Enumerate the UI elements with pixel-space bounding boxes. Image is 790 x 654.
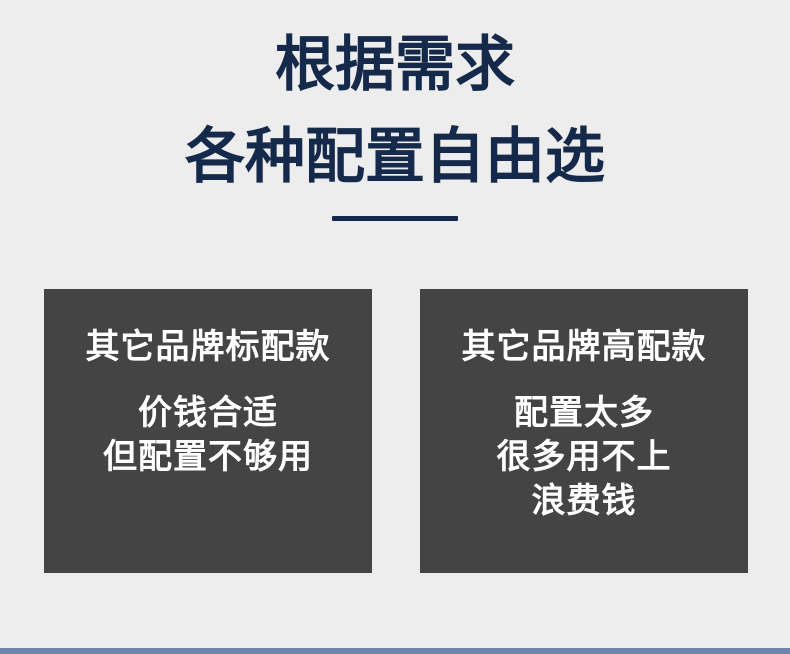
card-body-line: 但配置不够用 bbox=[103, 435, 313, 479]
headline-block: 根据需求 各种配置自由选 bbox=[0, 0, 790, 221]
card-title: 其它品牌高配款 bbox=[462, 289, 707, 369]
card-body-line: 配置太多 bbox=[497, 391, 672, 435]
card-high-config: 其它品牌高配款 配置太多 很多用不上 浪费钱 bbox=[420, 289, 748, 573]
headline-divider bbox=[332, 216, 458, 221]
card-body: 价钱合适 但配置不够用 bbox=[103, 369, 313, 479]
card-body-line: 价钱合适 bbox=[103, 391, 313, 435]
card-title: 其它品牌标配款 bbox=[86, 289, 331, 369]
card-body-line: 浪费钱 bbox=[497, 479, 672, 523]
bottom-accent-strip bbox=[0, 648, 790, 654]
card-body: 配置太多 很多用不上 浪费钱 bbox=[497, 369, 672, 523]
card-body-line: 很多用不上 bbox=[497, 435, 672, 479]
promo-banner: 根据需求 各种配置自由选 其它品牌标配款 价钱合适 但配置不够用 其它品牌高配款… bbox=[0, 0, 790, 654]
headline-line-1: 根据需求 bbox=[0, 0, 790, 100]
headline-line-2: 各种配置自由选 bbox=[0, 100, 790, 192]
comparison-cards: 其它品牌标配款 价钱合适 但配置不够用 其它品牌高配款 配置太多 很多用不上 浪… bbox=[44, 289, 748, 573]
card-standard-config: 其它品牌标配款 价钱合适 但配置不够用 bbox=[44, 289, 372, 573]
